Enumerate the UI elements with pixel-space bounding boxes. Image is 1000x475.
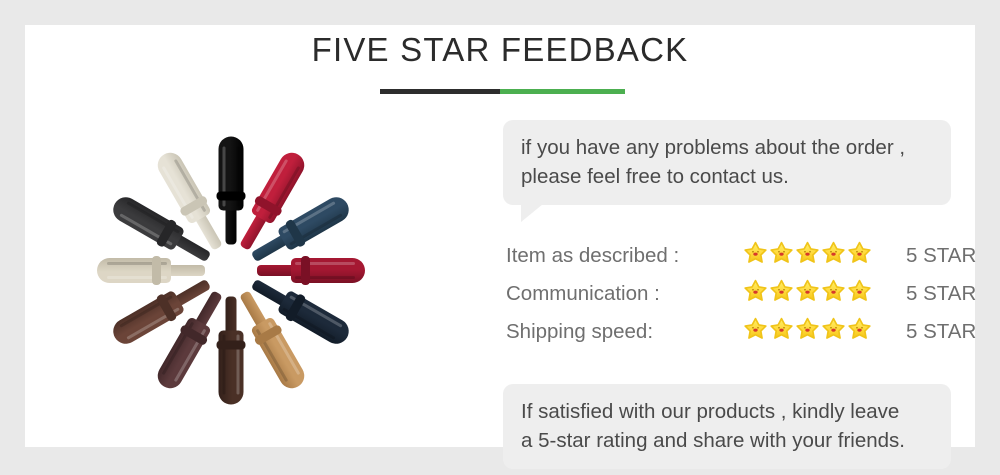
- rating-row: Item as described :5 STAR: [506, 241, 968, 279]
- header: FIVE STAR FEEDBACK: [25, 25, 975, 110]
- star-icon: [795, 317, 820, 342]
- rating-label: Shipping speed:: [506, 320, 653, 344]
- lace-band: [217, 340, 246, 349]
- star-icon: [847, 279, 872, 304]
- star-icon: [847, 317, 872, 342]
- rating-label: Item as described :: [506, 244, 679, 268]
- rating-row: Shipping speed:5 STAR: [506, 317, 968, 355]
- rating-value: 5 STAR: [906, 282, 976, 306]
- rating-list: Item as described :5 STARCommunication :…: [506, 241, 968, 355]
- feedback-banner: FIVE STAR FEEDBACK if you have any probl…: [0, 0, 1000, 475]
- star-icon: [795, 279, 820, 304]
- rating-stars: [743, 279, 872, 304]
- title-divider: [380, 89, 625, 94]
- divider-segment-green: [500, 89, 625, 94]
- rating-value: 5 STAR: [906, 320, 976, 344]
- star-icon: [821, 279, 846, 304]
- contact-message-line-1: if you have any problems about the order…: [521, 133, 933, 162]
- lace-band: [152, 256, 161, 285]
- shoelace-bundle-beige: [97, 258, 205, 283]
- divider-segment-dark: [380, 89, 500, 94]
- review-request-line-1: If satisfied with our products , kindly …: [521, 397, 933, 426]
- rating-value: 5 STAR: [906, 244, 976, 268]
- shoelace-bundle-dark-red: [257, 258, 365, 283]
- rating-label: Communication :: [506, 282, 660, 306]
- shoelace-bundle-dark-brown: [219, 296, 244, 404]
- contact-message-line-2: please feel free to contact us.: [521, 162, 933, 191]
- rating-stars: [743, 241, 872, 266]
- lace-band: [301, 256, 310, 285]
- feedback-content: if you have any problems about the order…: [478, 120, 968, 440]
- rating-row: Communication :5 STAR: [506, 279, 968, 317]
- star-icon: [769, 317, 794, 342]
- lace-band: [217, 191, 246, 200]
- rating-stars: [743, 317, 872, 342]
- contact-message-bubble: if you have any problems about the order…: [503, 120, 951, 205]
- star-icon: [821, 241, 846, 266]
- review-request-bubble: If satisfied with our products , kindly …: [503, 384, 951, 469]
- star-icon: [769, 241, 794, 266]
- star-icon: [821, 317, 846, 342]
- review-request-line-2: a 5-star rating and share with your frie…: [521, 426, 933, 455]
- bubble-tail: [521, 204, 543, 222]
- star-icon: [743, 317, 768, 342]
- content-panel: FIVE STAR FEEDBACK if you have any probl…: [25, 25, 975, 447]
- star-icon: [743, 279, 768, 304]
- shoelace-bundle-black: [219, 136, 244, 244]
- product-image-shoelaces: [65, 120, 465, 420]
- star-icon: [743, 241, 768, 266]
- star-icon: [847, 241, 872, 266]
- star-icon: [769, 279, 794, 304]
- page-title: FIVE STAR FEEDBACK: [25, 31, 975, 69]
- star-icon: [795, 241, 820, 266]
